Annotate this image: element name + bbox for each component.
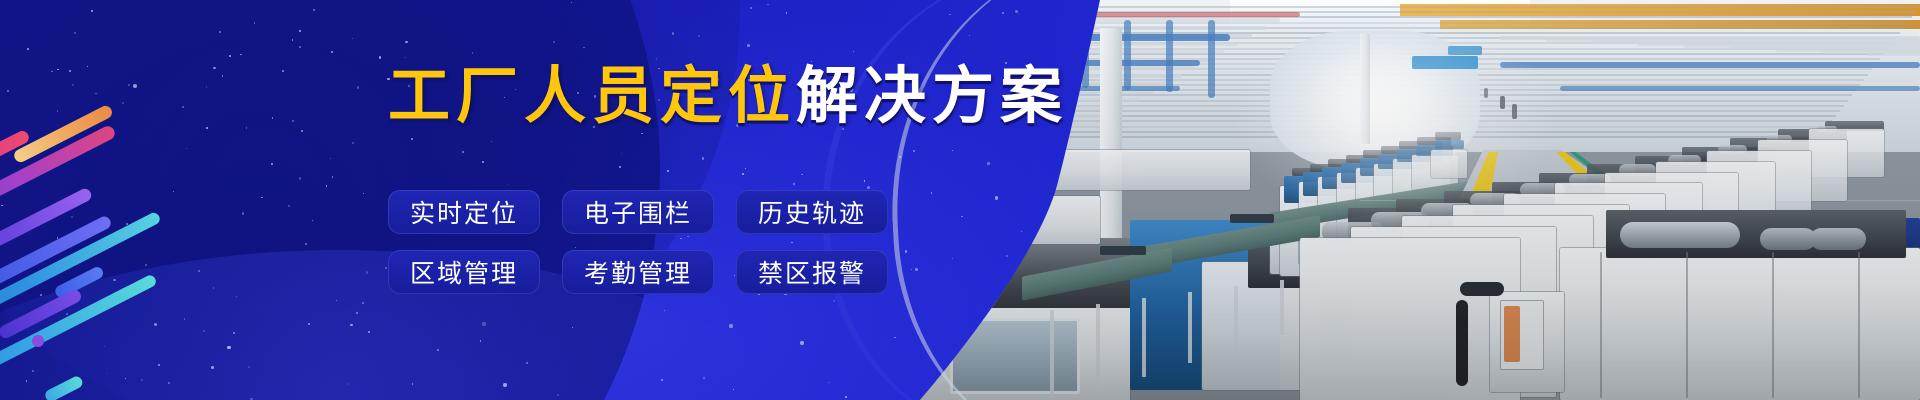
page-title-rest: 解决方案 — [796, 62, 1068, 131]
tag-zone-management[interactable]: 区域管理 — [388, 250, 540, 294]
tag-history-track[interactable]: 历史轨迹 — [736, 190, 888, 234]
feature-tag-row-1: 实时定位 电子围栏 历史轨迹 — [388, 190, 948, 234]
tag-electronic-fence[interactable]: 电子围栏 — [562, 190, 714, 234]
content-block: 工厂人员定位解决方案 实时定位 电子围栏 历史轨迹 区域管理 考勤管理 禁区报警 — [0, 0, 1000, 400]
feature-tag-row-2: 区域管理 考勤管理 禁区报警 — [388, 250, 948, 294]
tag-restricted-area-alarm[interactable]: 禁区报警 — [736, 250, 888, 294]
page-title: 工厂人员定位解决方案 — [388, 66, 1068, 128]
banner-root: 工厂人员定位解决方案 实时定位 电子围栏 历史轨迹 区域管理 考勤管理 禁区报警 — [0, 0, 1920, 400]
page-title-highlight: 工厂人员定位 — [388, 62, 796, 131]
tag-realtime-location[interactable]: 实时定位 — [388, 190, 540, 234]
tag-attendance-management[interactable]: 考勤管理 — [562, 250, 714, 294]
feature-tag-list: 实时定位 电子围栏 历史轨迹 区域管理 考勤管理 禁区报警 — [388, 190, 948, 310]
